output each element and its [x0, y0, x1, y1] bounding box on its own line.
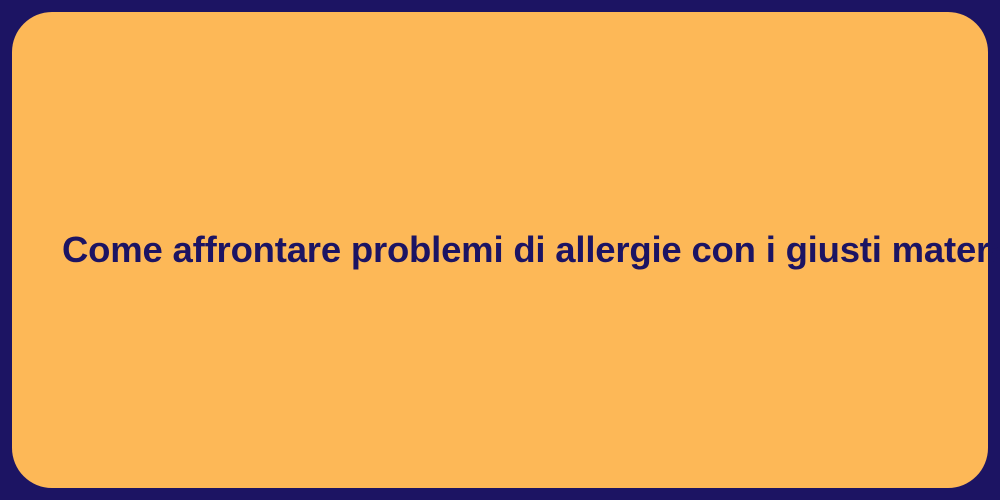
banner-headline: Come affrontare problemi di allergie con… — [62, 227, 938, 273]
headline-container: Come affrontare problemi di allergie con… — [12, 227, 988, 273]
banner-frame-border: Come affrontare problemi di allergie con… — [0, 0, 1000, 500]
banner-content-panel: Come affrontare problemi di allergie con… — [12, 12, 988, 488]
banner-root: Come affrontare problemi di allergie con… — [0, 0, 1000, 500]
